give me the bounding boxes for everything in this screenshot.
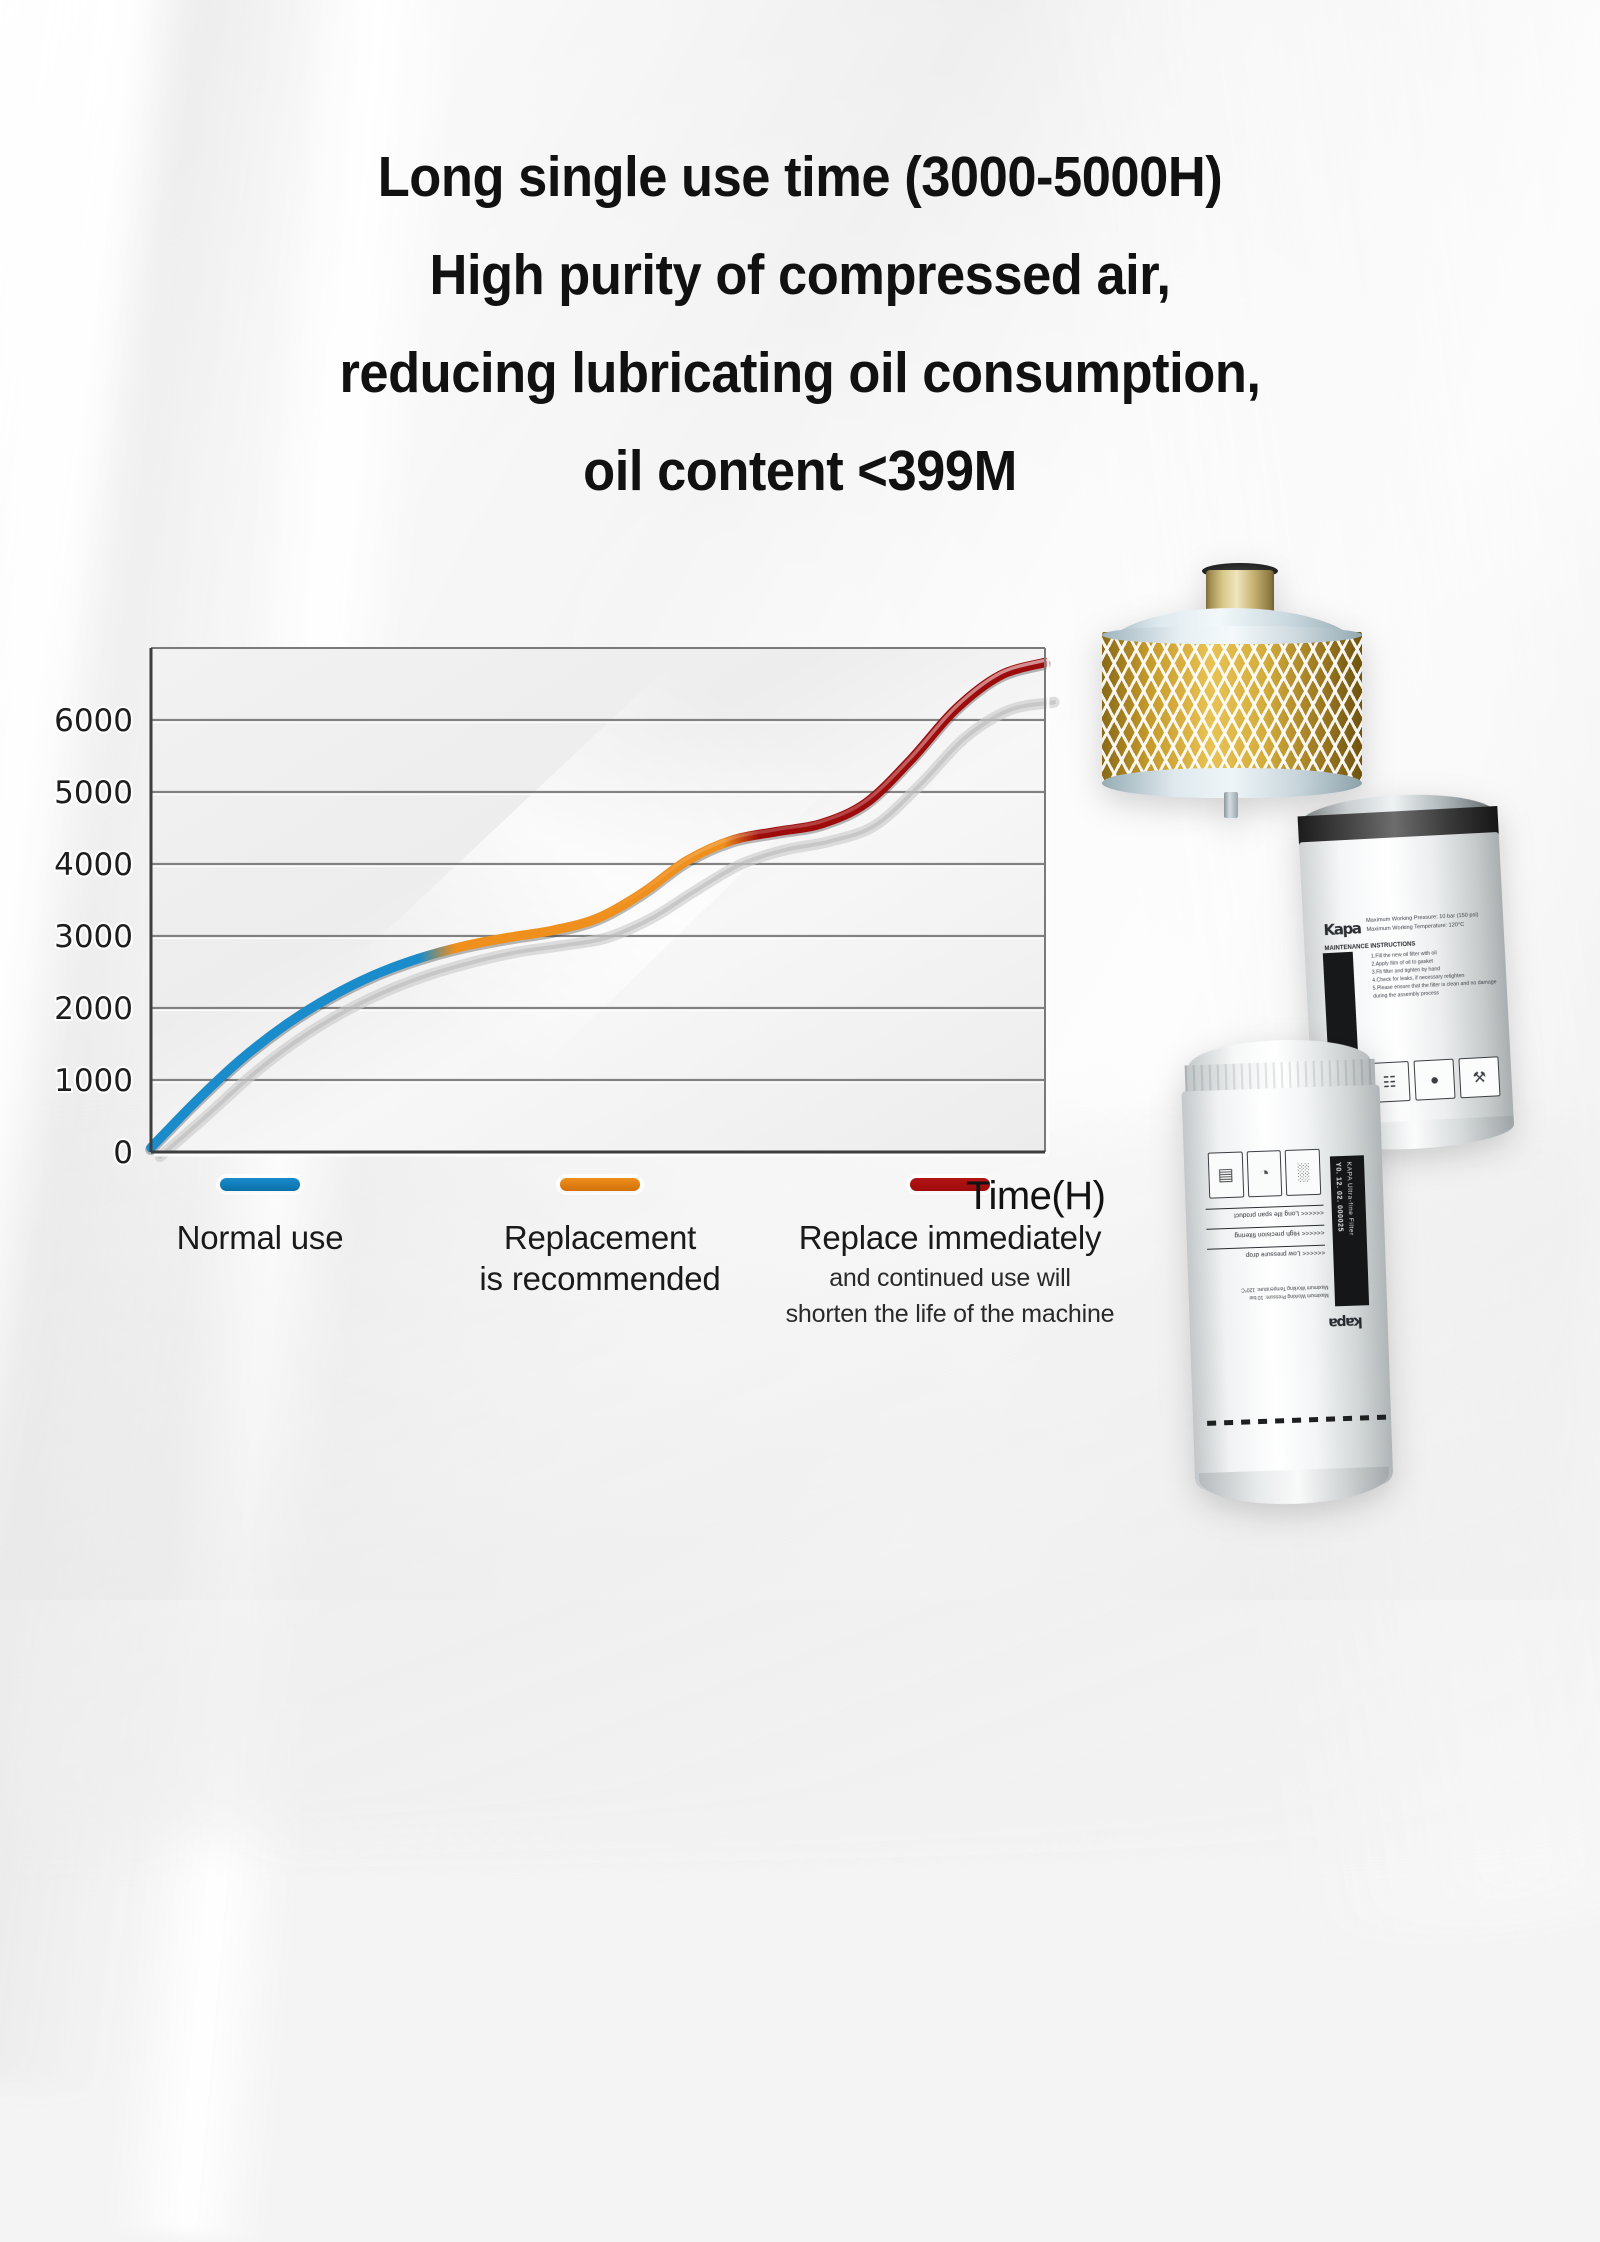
legend-label-replace-immediately: Replace immediately xyxy=(750,1217,1150,1258)
headline-line-3: reducing lubricating oil consumption, xyxy=(64,324,1536,422)
ultra-filter-spec-block: Maximum Working Pressure: 10 bar Maximum… xyxy=(1208,1283,1328,1302)
ultra-filter-pictogram-2-icon: ◔ xyxy=(1246,1150,1282,1197)
ultra-filter-pictogram-1-icon: ▤ xyxy=(1208,1151,1244,1198)
headline-line-4: oil content <399M xyxy=(64,422,1536,520)
oil-filter-pictogram-row: ☷ ● ⚒ xyxy=(1369,1056,1501,1103)
legend-item-replacement-recommended[interactable]: Replacement is recommended xyxy=(430,1178,770,1299)
ultra-filter-barcode-code: Y0. 12. 02. 000025 xyxy=(1334,1162,1343,1232)
chart-canvas: 0100020003000400050006000 xyxy=(56,620,1116,1180)
legend-sub-replace-immediately-line2: shorten the life of the machine xyxy=(750,1298,1150,1330)
product-photo-group: Kapa Maximum Working Pressure: 10 bar (1… xyxy=(1060,540,1600,1560)
air-filter-upper-band xyxy=(1102,626,1362,644)
oil-filter-pictogram-tools-icon: ⚒ xyxy=(1458,1056,1500,1098)
legend-label-normal-use: Normal use xyxy=(90,1217,430,1258)
legend-label-replacement-line1: Replacement xyxy=(430,1217,770,1258)
ultra-filter-feature-1: <<<<<< Long life span product xyxy=(1206,1205,1324,1222)
headline-line-1: Long single use time (3000-5000H) xyxy=(64,128,1536,226)
legend-item-normal-use[interactable]: Normal use xyxy=(90,1178,430,1258)
chart-y-tick-1000: 1000 xyxy=(54,1063,133,1099)
headline-line-2: High purity of compressed air, xyxy=(64,226,1536,324)
legend-swatch-normal-use xyxy=(220,1178,300,1191)
chart-y-tick-5000: 5000 xyxy=(54,775,133,811)
ultra-filter-body: ▤ ◔ ░ <<<<<< Long life span product <<<<… xyxy=(1182,1085,1394,1492)
chart-y-axis-ticks: 0100020003000400050006000 xyxy=(54,703,133,1171)
chart-y-tick-4000: 4000 xyxy=(54,847,133,883)
ultra-filter-feature-3: <<<<<< Low pressure drop xyxy=(1207,1245,1325,1262)
ultra-fine-filter-photo: ▤ ◔ ░ <<<<<< Long life span product <<<<… xyxy=(1174,1036,1400,1513)
legend-swatch-replacement-recommended xyxy=(560,1178,640,1191)
chart-y-tick-3000: 3000 xyxy=(54,919,133,955)
air-filter-mesh-body xyxy=(1102,632,1362,782)
ultra-filter-barcode-panel: KAPA Ultra-fine Filter Y0. 12. 02. 00002… xyxy=(1330,1155,1369,1306)
ultra-filter-dashed-band xyxy=(1207,1415,1389,1426)
chart-y-tick-6000: 6000 xyxy=(54,703,133,739)
ultra-filter-feature-2: <<<<<< High precision filtering xyxy=(1206,1225,1324,1242)
ultra-filter-barcode-title: KAPA Ultra-fine Filter xyxy=(1345,1162,1355,1236)
air-filter-stud xyxy=(1224,792,1238,818)
chart-plot-background xyxy=(151,648,1045,1152)
page-title: Long single use time (3000-5000H) High p… xyxy=(0,128,1600,520)
ultra-filter-pictogram-row: ▤ ◔ ░ xyxy=(1208,1149,1322,1199)
air-intake-filter-element-photo xyxy=(1102,570,1362,830)
ultra-filter-brand: kapa xyxy=(1329,1313,1363,1330)
oil-filter-pictogram-oil-icon: ● xyxy=(1413,1059,1455,1101)
legend-label-replacement-line2: is recommended xyxy=(430,1258,770,1299)
oil-filter-barcode-text: KAPA Oil Filter Y0.12.02.000025 xyxy=(1312,976,1320,1006)
oil-filter-brand: Kapa xyxy=(1323,917,1361,942)
ultra-filter-feature-list: <<<<<< Long life span product <<<<<< Hig… xyxy=(1206,1205,1326,1269)
ultra-filter-bottom-cap xyxy=(1199,1467,1390,1508)
filter-life-chart: 0100020003000400050006000 xyxy=(56,620,1116,1180)
chart-y-tick-0: 0 xyxy=(113,1135,133,1171)
chart-x-axis-label: Time(H) xyxy=(966,1174,1105,1219)
ultra-filter-pictogram-3-icon: ░ xyxy=(1285,1149,1321,1196)
chart-y-tick-2000: 2000 xyxy=(54,991,133,1027)
legend-sub-replace-immediately-line1: and continued use will xyxy=(750,1262,1150,1294)
